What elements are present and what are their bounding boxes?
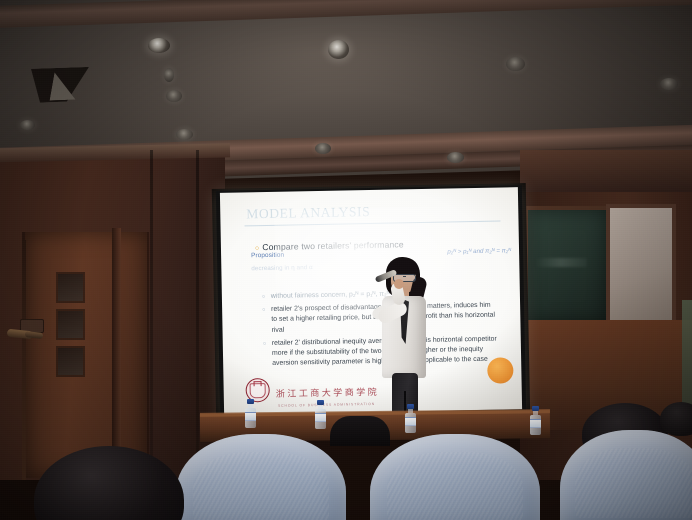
presenter-hand [394,279,404,289]
ceiling-downlight [328,40,349,59]
wall-panel-seam [150,150,153,480]
water-bottle [405,404,416,433]
slide-bullet-line: rival [271,326,284,333]
water-bottle [245,399,256,428]
bottle-label [315,413,326,422]
slide-title: MODEL ANALYSIS [246,202,496,223]
bottle-label [530,419,541,428]
ceiling-downlight [447,152,464,163]
wall-panel-seam [196,150,199,480]
water-bottle [315,400,326,429]
audience-shoulders [330,416,390,446]
ceiling-downlight [148,38,170,53]
slide-orange-graphic [487,357,513,383]
door-window [56,346,85,377]
door-window [56,309,85,340]
audience-head [660,402,692,436]
lecture-room-door[interactable] [22,232,149,478]
water-bottle [530,406,541,435]
bottle-label [245,412,256,421]
bullet-marker-icon: ○ [262,292,266,302]
bottle-body [530,415,541,435]
audience-chair [370,434,540,520]
ceiling-downlight [20,120,35,130]
lecture-room-photo: MODEL ANALYSIS ○Compare two retailers' p… [0,0,692,520]
right-wall-upper-trim [520,150,692,192]
door-frame [112,228,121,480]
ceiling-downlight [315,143,331,154]
chalkboard-writing-smudge [535,258,587,267]
bottle-body [245,408,256,428]
proposition-math: p₂ᴺ > p₁ᴺ and π₂ᴺ = π₂ᴺ [447,247,511,255]
ceiling-downlight [660,78,678,90]
ceiling-downlight [176,129,193,140]
whiteboard [606,204,676,324]
door-edge-strip [22,240,26,480]
door-window [56,272,85,303]
bottle-body [315,409,326,429]
bullet-marker-icon: ○ [262,305,266,315]
ceiling-downlight [166,90,182,102]
institution-name-cn: 浙江工商大学商学院 [276,385,380,400]
ceiling-downlight [506,57,525,71]
bottle-label [405,417,416,426]
institution-name-sub: SCHOOL OF BUSINESS ADMINISTRATION [278,402,375,408]
bottle-body [405,413,416,433]
bullet-marker-icon: ○ [263,339,267,349]
ceiling-downlight [164,68,174,82]
